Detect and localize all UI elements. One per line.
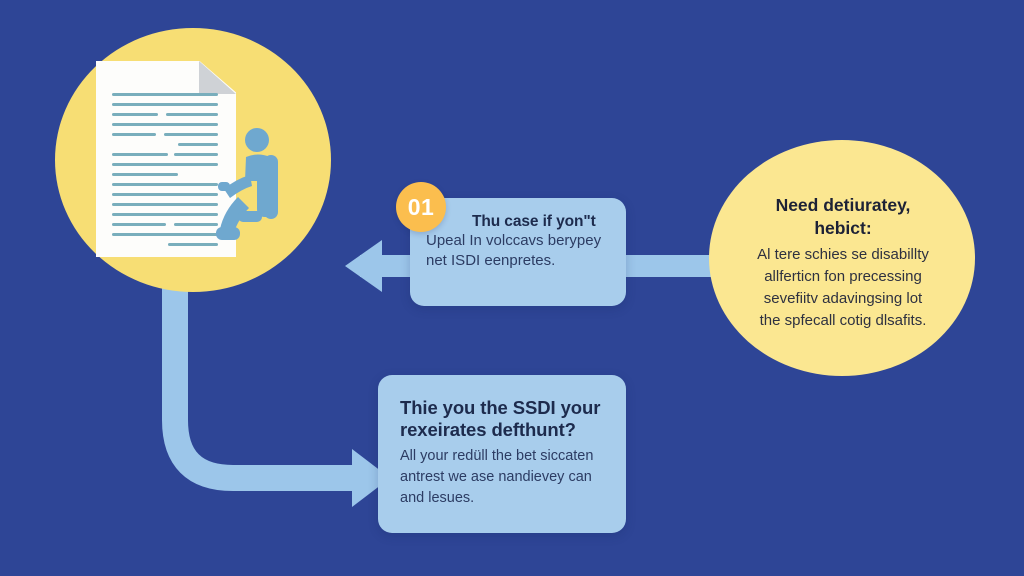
card-02-body-line: and lesues. xyxy=(400,488,606,509)
arrowhead-left-icon xyxy=(345,240,382,292)
document-line xyxy=(112,193,218,196)
infographic-canvas: 01 Thu case if yon"t Upeal In volccavs b… xyxy=(0,0,1024,576)
circle-right-body-line: the spfecall cotig dlsafits. xyxy=(727,310,959,332)
circle-right-body-line: sevefiitv adavingsing lot xyxy=(727,288,959,310)
document-line xyxy=(112,213,218,216)
document-line xyxy=(112,153,168,156)
document-line xyxy=(174,153,218,156)
document-line xyxy=(164,133,218,136)
document-line xyxy=(112,223,166,226)
document-line xyxy=(112,133,156,136)
card-01-title: Thu case if yon"t xyxy=(426,212,610,231)
document-line xyxy=(112,173,178,176)
card-01-body: Upeal In volccavs berypey net ISDI eenpr… xyxy=(426,231,610,271)
step-card-02[interactable]: Thie you the SSDI your rexeirates defthu… xyxy=(378,375,626,533)
step-number-badge: 01 xyxy=(396,182,446,232)
document-line xyxy=(174,223,218,226)
document-line xyxy=(112,113,158,116)
card-02-body-line: antrest we ase nandievey can xyxy=(400,467,606,488)
card-02-title: Thie you the SSDI your rexeirates defthu… xyxy=(400,397,606,441)
circle-right-title: Need detiuratey, hebict: xyxy=(727,194,959,240)
document-line xyxy=(168,243,218,246)
circle-right-content: Need detiuratey, hebict: Al tere schies … xyxy=(727,194,959,332)
card-02-body: All your redüll the bet siccaten antrest… xyxy=(400,446,606,509)
circle-right-body-line: allferticn fon precessing xyxy=(727,266,959,288)
circle-right-title-line: hebict: xyxy=(727,217,959,240)
circle-right-body: Al tere schies se disabillty allferticn … xyxy=(727,244,959,332)
document-line xyxy=(112,163,218,166)
appeal-document-icon xyxy=(96,55,296,260)
card-02-title-line: Thie you the SSDI your xyxy=(400,397,606,419)
document-line xyxy=(112,203,218,206)
card-01-body-line: Upeal In volccavs berypey xyxy=(426,231,610,251)
circle-right-title-line: Need detiuratey, xyxy=(727,194,959,217)
document-line xyxy=(166,113,218,116)
card-02-title-line: rexeirates defthunt? xyxy=(400,419,606,441)
document-line xyxy=(112,93,218,96)
document-line xyxy=(112,183,218,186)
document-line xyxy=(112,233,218,236)
step-card-01[interactable]: 01 Thu case if yon"t Upeal In volccavs b… xyxy=(410,198,626,306)
connector-circleleft-to-card02-shaft xyxy=(175,275,368,478)
person-climbing-icon xyxy=(216,127,296,252)
circle-right-body-line: Al tere schies se disabillty xyxy=(727,244,959,266)
document-line xyxy=(112,103,218,106)
card-02-body-line: All your redüll the bet siccaten xyxy=(400,446,606,467)
card-01-body-line: net ISDI eenpretes. xyxy=(426,251,610,271)
document-line xyxy=(178,143,218,146)
document-line xyxy=(112,123,218,126)
